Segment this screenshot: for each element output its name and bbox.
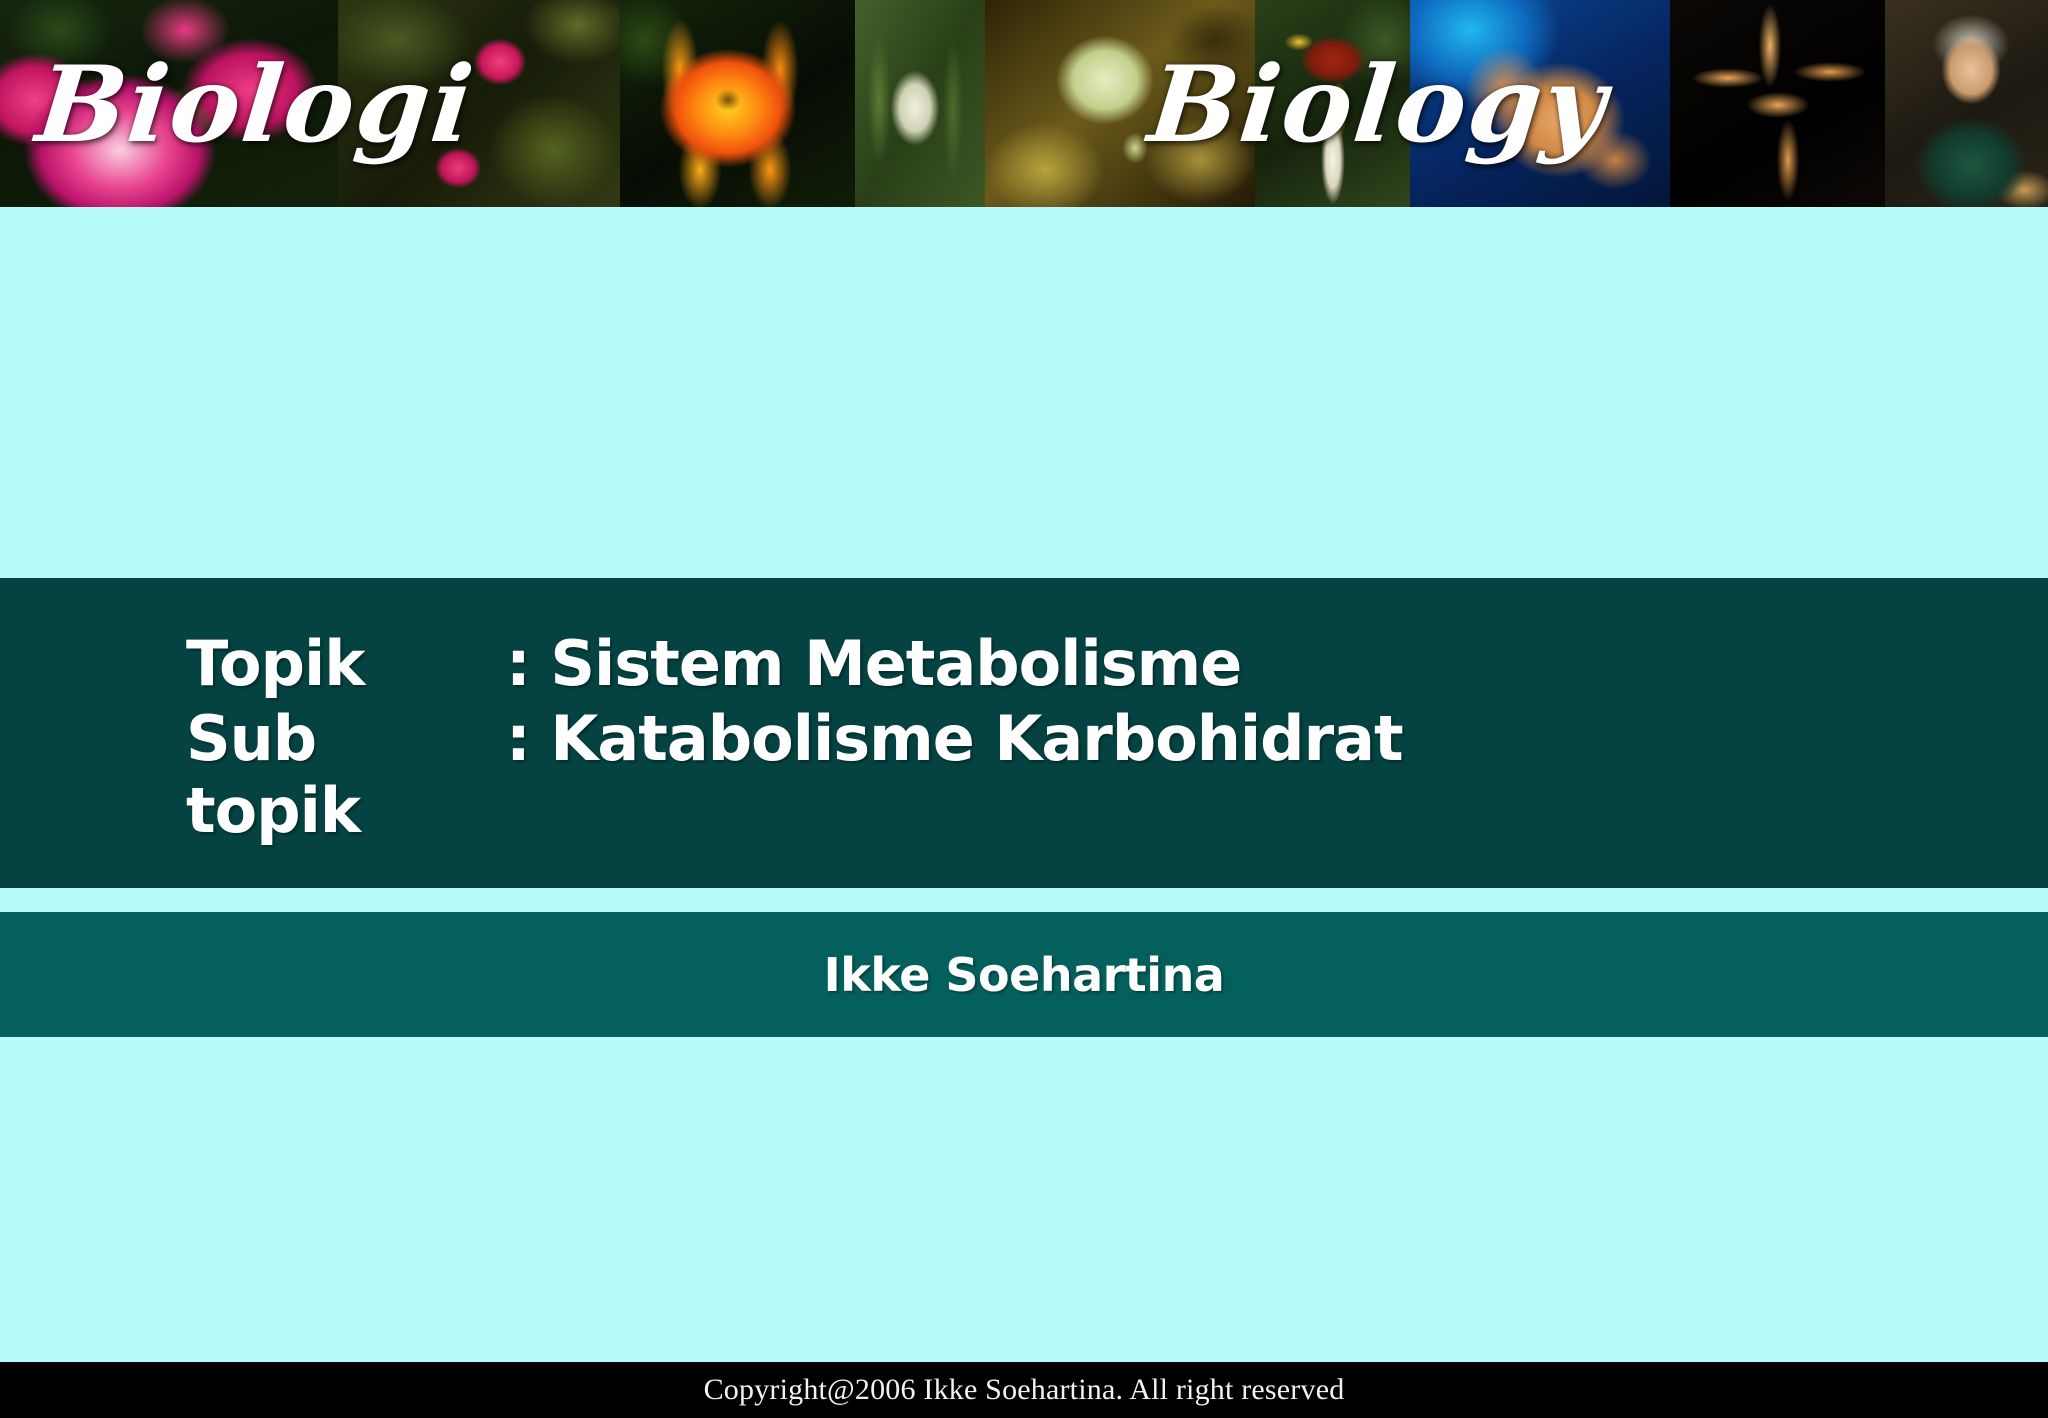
footer-bar: Copyright@2006 Ikke Soehartina. All righ…: [0, 1362, 2048, 1418]
author-name: Ikke Soehartina: [824, 948, 1225, 1002]
topic-rows: Topik : Sistem Metabolisme Sub topik : K…: [186, 628, 1403, 848]
rose-bush-photo: [338, 0, 620, 207]
banner-panel-pitcher-plant: [855, 0, 985, 207]
sub-topic-value: : Katabolisme Karbohidrat: [506, 703, 1403, 776]
banner-panel-orange-lily: [620, 0, 855, 207]
orange-lily-photo: [620, 0, 855, 207]
banner-panel-seed-pod: [985, 0, 1255, 207]
header-banner: Biologi Biology: [0, 0, 2048, 207]
linnaeus-portrait-photo: [1885, 0, 2048, 207]
topic-row: Topik : Sistem Metabolisme: [186, 628, 1403, 701]
banner-panel-desert-rose: [0, 0, 338, 207]
banner-panel-bird-of-paradise: [1255, 0, 1410, 207]
topic-row: Sub topik : Katabolisme Karbohidrat: [186, 703, 1403, 848]
topic-value: : Sistem Metabolisme: [506, 628, 1241, 701]
topic-label: Topik: [186, 628, 506, 701]
starfish-photo: [1670, 0, 1885, 207]
banner-panel-sea-fan-coral: [1410, 0, 1670, 207]
bird-of-paradise-photo: [1255, 0, 1410, 207]
slide-body: Topik : Sistem Metabolisme Sub topik : K…: [0, 207, 2048, 1362]
sub-topic-label: Sub topik: [186, 703, 506, 848]
banner-panel-starfish: [1670, 0, 1885, 207]
copyright-text: Copyright@2006 Ikke Soehartina. All righ…: [704, 1373, 1345, 1407]
topic-band: Topik : Sistem Metabolisme Sub topik : K…: [0, 578, 2048, 888]
seed-pod-photo: [985, 0, 1255, 207]
desert-rose-photo: [0, 0, 338, 207]
banner-panel-rose-bush: [338, 0, 620, 207]
author-band: Ikke Soehartina: [0, 912, 2048, 1037]
pitcher-plant-photo: [855, 0, 985, 207]
banner-panel-linnaeus-portrait: [1885, 0, 2048, 207]
sea-fan-coral-photo: [1410, 0, 1670, 207]
